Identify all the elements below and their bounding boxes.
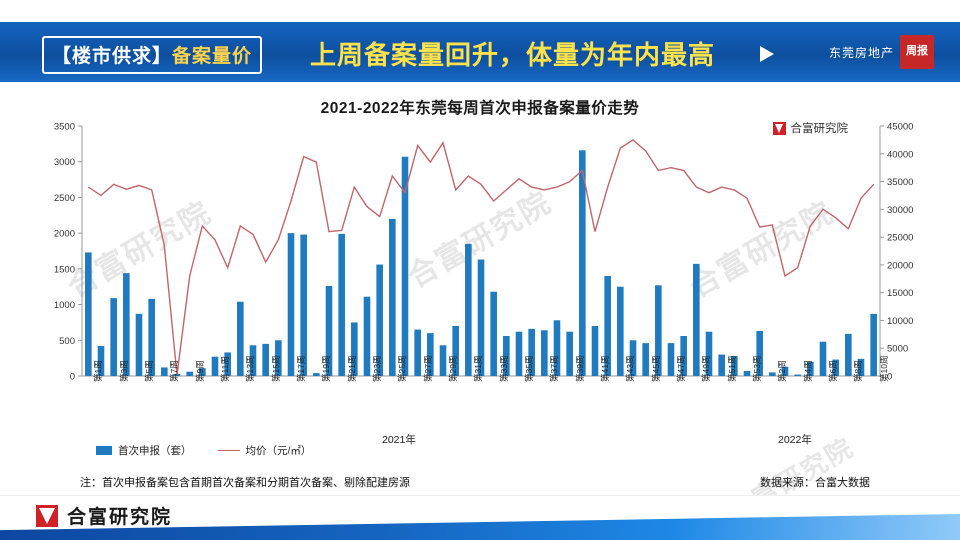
x-tick-label: 第13周 xyxy=(244,356,256,382)
x-tick-label: 第5周 xyxy=(143,360,155,382)
footer-logo: 合富研究院 xyxy=(36,502,172,529)
banner-tag-prefix: 【楼市供求】 xyxy=(52,46,172,67)
top-strip xyxy=(0,0,960,22)
x-tick-label: 第10周 xyxy=(878,356,890,382)
svg-text:10000: 10000 xyxy=(887,316,913,327)
banner-brand-text: 东莞房地产 xyxy=(829,44,894,61)
x-tick-label: 第25周 xyxy=(396,356,408,382)
year-label-2022: 2022年 xyxy=(778,432,812,447)
svg-text:1000: 1000 xyxy=(54,300,75,311)
chart-note: 注：首次申报备案包含首期首次备案和分期首次备案、剔除配建房源 xyxy=(80,474,410,490)
chart-title: 2021-2022年东莞每周首次申报备案量价走势 xyxy=(0,96,960,118)
x-tick-label: 第43周 xyxy=(624,356,636,382)
banner-headline: 上周备案量回升，体量为年内最高 xyxy=(310,35,715,72)
svg-text:1500: 1500 xyxy=(54,264,75,275)
year-label-2021: 2021年 xyxy=(382,432,416,447)
header-banner: 【楼市供求】备案量价 上周备案量回升，体量为年内最高 东莞房地产 周报 xyxy=(0,22,960,82)
x-tick-label: 第15周 xyxy=(270,356,282,382)
svg-text:40000: 40000 xyxy=(887,149,913,160)
footer-logo-label: 合富研究院 xyxy=(67,502,172,529)
footer: 合富研究院 xyxy=(0,495,960,540)
hopefluent-mark-icon xyxy=(36,505,58,527)
x-tick-label: 第35周 xyxy=(523,356,535,382)
x-tick-label: 第11周 xyxy=(219,356,231,382)
x-tick-label: 第7周 xyxy=(168,360,180,382)
banner-tag-highlight: 备案量价 xyxy=(172,46,252,67)
banner-brand: 东莞房地产 周报 xyxy=(829,34,934,70)
legend-swatch-line xyxy=(218,450,240,451)
x-tick-label: 第39周 xyxy=(574,356,586,382)
svg-text:0: 0 xyxy=(70,372,75,383)
x-tick-label: 第33周 xyxy=(498,356,510,382)
chart-legend: 首次申报（套） 均价（元/㎡） xyxy=(96,443,311,458)
weekly-report-mark: 周报 xyxy=(900,35,934,69)
x-tick-label: 第29周 xyxy=(447,356,459,382)
x-tick-label: 第2周 xyxy=(776,360,788,382)
x-tick-label: 第9周 xyxy=(194,360,206,382)
x-tick-label: 第6周 xyxy=(827,360,839,382)
x-tick-label: 第27周 xyxy=(422,356,434,382)
legend-label-line: 均价（元/㎡） xyxy=(246,443,312,458)
x-tick-label: 第31周 xyxy=(472,356,484,382)
x-tick-label: 第49周 xyxy=(700,356,712,382)
x-tick-label: 第45周 xyxy=(650,356,662,382)
x-tick-label: 第19周 xyxy=(320,356,332,382)
svg-text:30000: 30000 xyxy=(887,205,913,216)
svg-text:3000: 3000 xyxy=(54,157,75,168)
x-tick-label: 第37周 xyxy=(548,356,560,382)
x-tick-label: 第47周 xyxy=(675,356,687,382)
chart-source: 数据来源：合富大数据 xyxy=(760,474,870,490)
svg-text:5000: 5000 xyxy=(887,344,908,355)
x-tick-label: 第21周 xyxy=(346,356,358,382)
x-tick-label: 第4周 xyxy=(802,360,814,382)
arrow-icon xyxy=(760,46,774,62)
x-tick-label: 第17周 xyxy=(295,356,307,382)
legend-swatch-bar xyxy=(96,446,112,455)
x-tick-label: 第1周 xyxy=(92,360,104,382)
svg-text:2500: 2500 xyxy=(54,193,75,204)
legend-item-line: 均价（元/㎡） xyxy=(218,443,312,458)
x-tick-label: 第8周 xyxy=(852,360,864,382)
svg-text:2000: 2000 xyxy=(54,229,75,240)
legend-item-bar: 首次申报（套） xyxy=(96,443,192,458)
x-tick-label: 第23周 xyxy=(371,356,383,382)
svg-text:35000: 35000 xyxy=(887,177,913,188)
x-tick-label: 第53周 xyxy=(751,356,763,382)
svg-text:3500: 3500 xyxy=(54,122,75,133)
legend-label-bar: 首次申报（套） xyxy=(118,443,192,458)
svg-text:20000: 20000 xyxy=(887,260,913,271)
svg-text:15000: 15000 xyxy=(887,288,913,299)
svg-text:25000: 25000 xyxy=(887,233,913,244)
banner-tag: 【楼市供求】备案量价 xyxy=(42,36,262,74)
x-tick-label: 第51周 xyxy=(726,356,738,382)
x-tick-label: 第3周 xyxy=(118,360,130,382)
x-tick-label: 第41周 xyxy=(599,356,611,382)
svg-text:45000: 45000 xyxy=(887,122,913,133)
svg-text:500: 500 xyxy=(59,336,75,347)
